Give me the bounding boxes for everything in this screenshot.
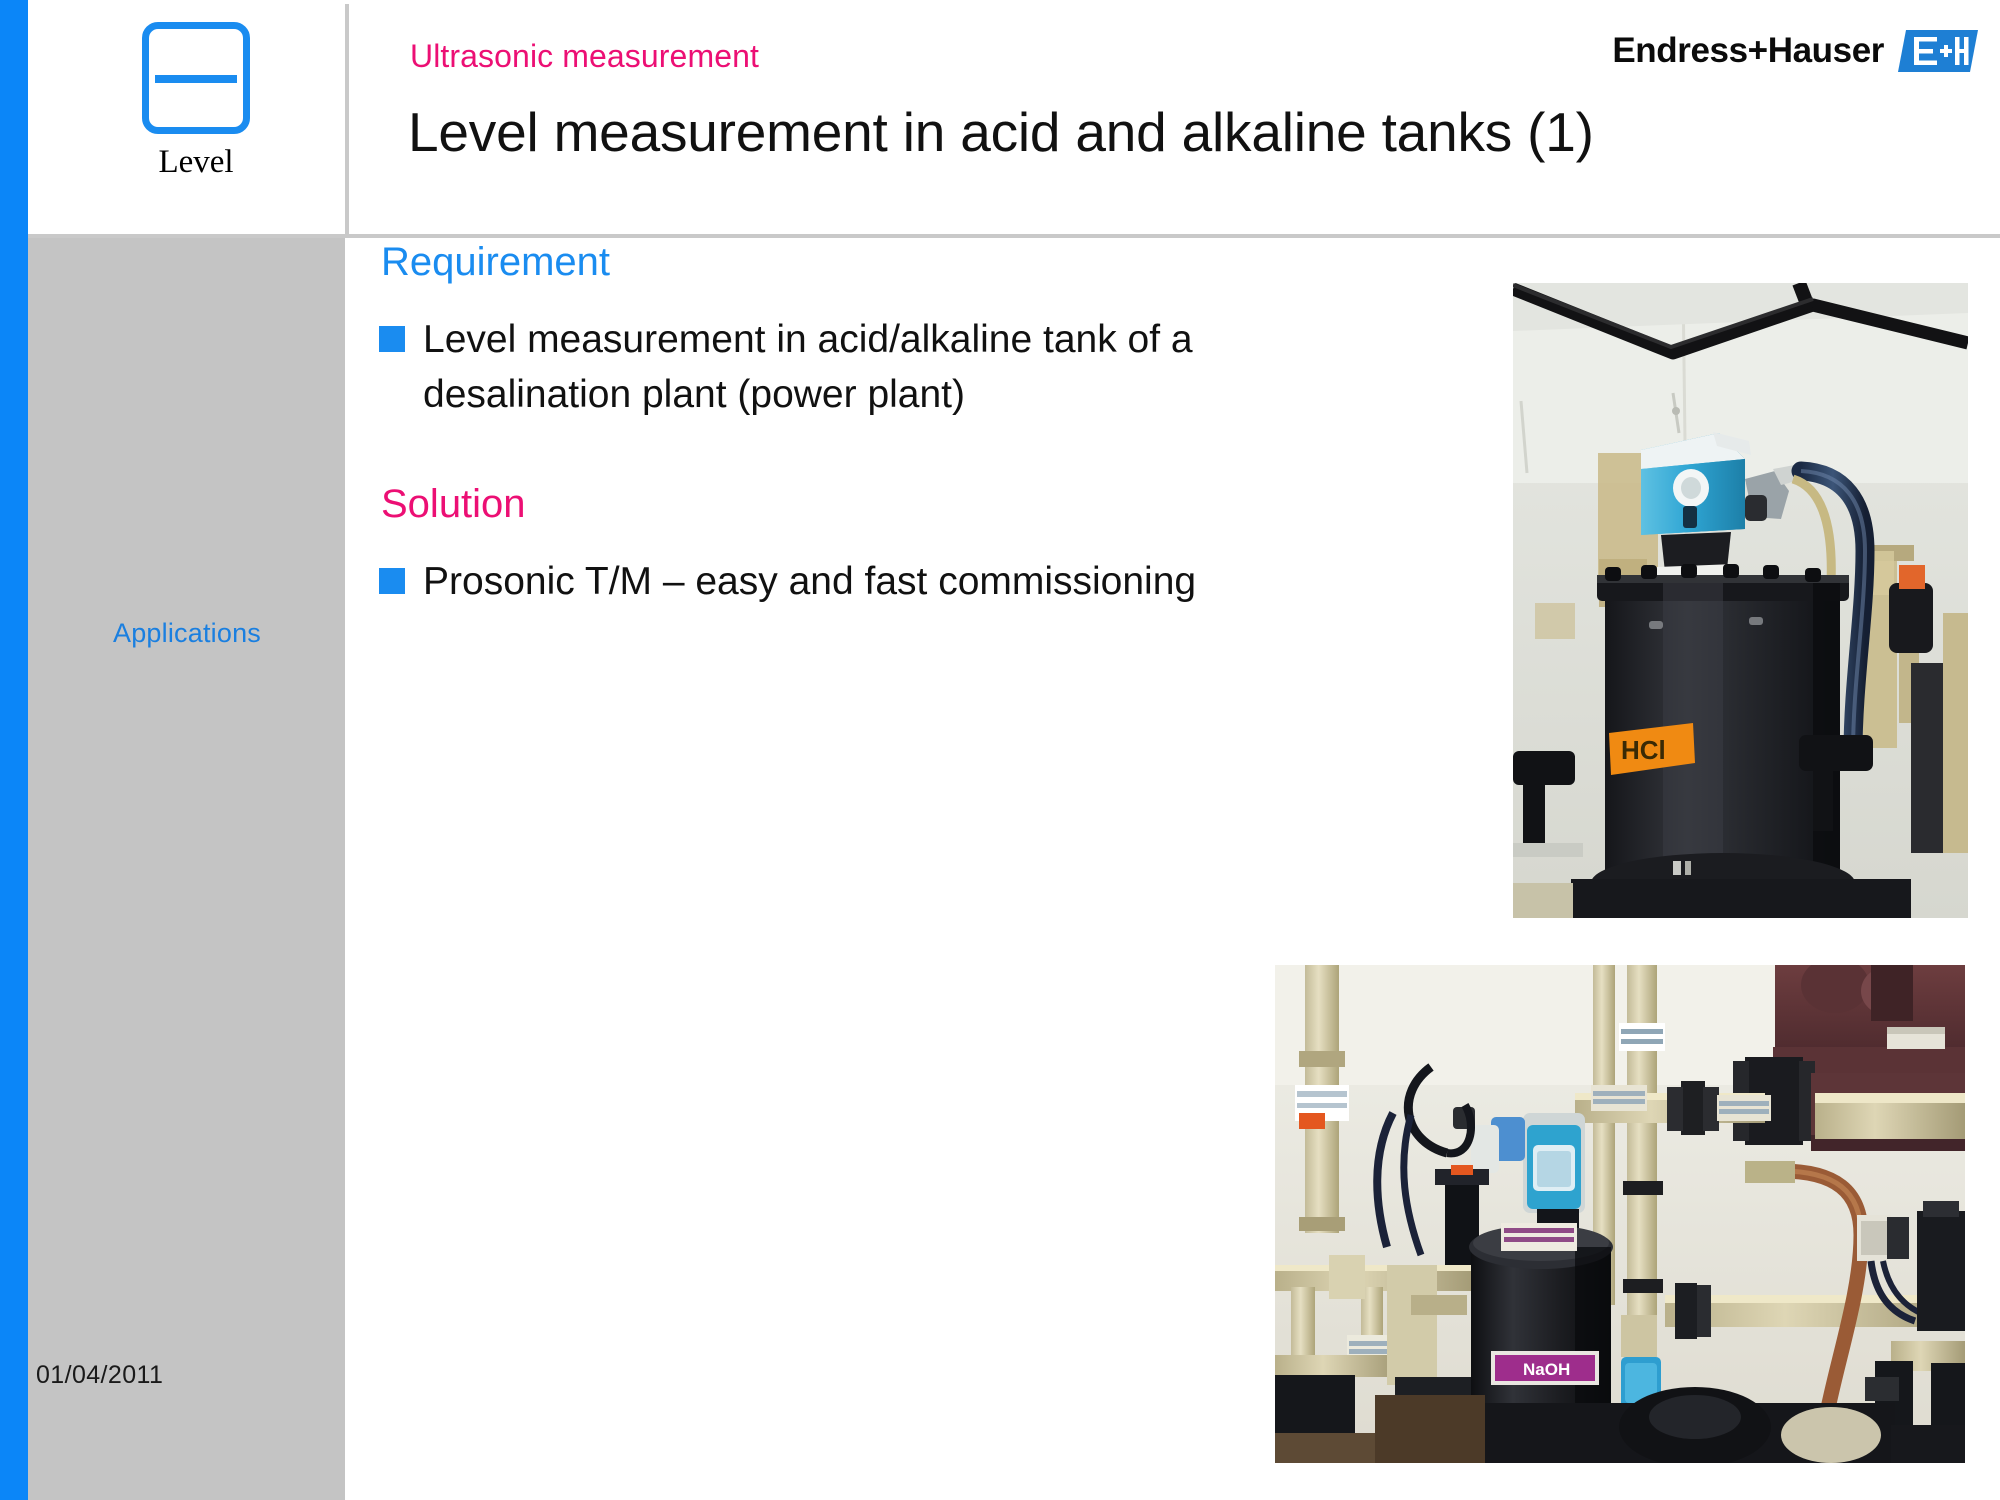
eh-monogram-icon	[1898, 30, 1978, 72]
bullet-item: Prosonic T/M – easy and fast commissioni…	[379, 554, 1319, 609]
company-logo: Endress+Hauser	[1612, 30, 1978, 72]
hcl-tank-photo: HCl	[1513, 283, 1968, 918]
header-vertical-divider	[345, 4, 349, 238]
section-heading-requirement: Requirement	[381, 238, 1319, 286]
sidebar: Applications 01/04/2011	[28, 238, 345, 1500]
left-accent-bar	[0, 0, 28, 1500]
section-requirement: Requirement Level measurement in acid/al…	[379, 238, 1319, 423]
svg-text:NaOH: NaOH	[1523, 1360, 1570, 1379]
level-icon	[142, 22, 250, 134]
svg-text:HCl: HCl	[1621, 735, 1666, 765]
sidebar-item-applications[interactable]: Applications	[42, 618, 332, 649]
naoh-tank-photo: NaOH	[1275, 965, 1965, 1463]
company-name: Endress+Hauser	[1612, 31, 1884, 71]
bullet-item: Level measurement in acid/alkaline tank …	[379, 312, 1319, 423]
level-badge: Level	[136, 22, 256, 212]
section-solution: Solution Prosonic T/M – easy and fast co…	[379, 480, 1319, 609]
slide-kicker: Ultrasonic measurement	[410, 38, 759, 75]
bullet-text: Prosonic T/M – easy and fast commissioni…	[423, 554, 1196, 609]
level-badge-caption: Level	[136, 144, 256, 180]
bullet-text: Level measurement in acid/alkaline tank …	[423, 312, 1253, 423]
bullet-square-icon	[379, 326, 405, 352]
bullet-square-icon	[379, 568, 405, 594]
slide-header: Level Ultrasonic measurement Level measu…	[28, 0, 2000, 238]
section-heading-solution: Solution	[381, 480, 1319, 528]
page-title: Level measurement in acid and alkaline t…	[408, 100, 1594, 164]
slide-date: 01/04/2011	[36, 1361, 326, 1390]
